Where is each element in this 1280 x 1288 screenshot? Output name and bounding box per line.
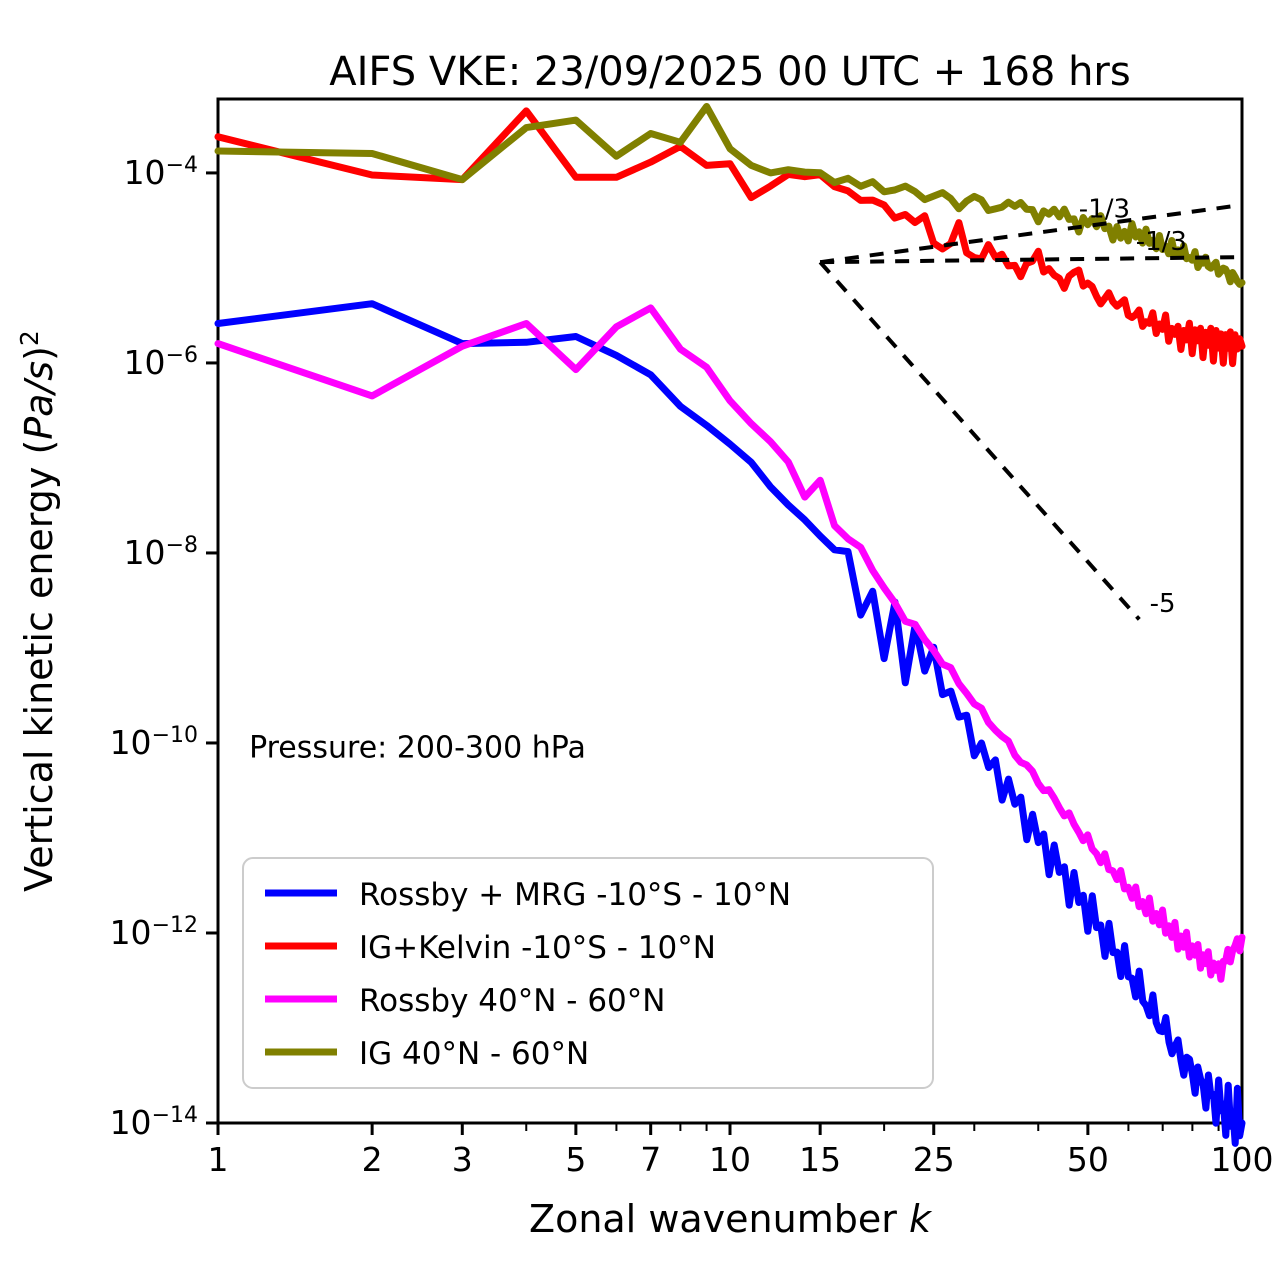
slope-label-upper: -1/3 bbox=[1079, 194, 1130, 224]
legend[interactable]: Rossby + MRG -10°S - 10°NIG+Kelvin -10°S… bbox=[243, 858, 933, 1088]
x-tick-label: 5 bbox=[565, 1140, 586, 1179]
legend-label-3: IG 40°N - 60°N bbox=[359, 1036, 589, 1072]
x-tick-label: 25 bbox=[913, 1140, 955, 1179]
legend-label-1: IG+Kelvin -10°S - 10°N bbox=[359, 930, 716, 966]
x-tick-label: 15 bbox=[799, 1140, 841, 1179]
x-axis-ticks bbox=[218, 1123, 1242, 1135]
x-tick-label: 1 bbox=[208, 1140, 229, 1179]
x-axis-label: Zonal wavenumber k bbox=[529, 1197, 933, 1241]
x-tick-label: 3 bbox=[452, 1140, 473, 1179]
legend-label-2: Rossby 40°N - 60°N bbox=[359, 983, 665, 1019]
legend-label-0: Rossby + MRG -10°S - 10°N bbox=[359, 877, 791, 913]
figure-background bbox=[0, 0, 1280, 1288]
x-tick-label: 10 bbox=[709, 1140, 751, 1179]
x-tick-label: 100 bbox=[1211, 1140, 1274, 1179]
x-tick-label: 7 bbox=[640, 1140, 661, 1179]
slope-label-minus5: -5 bbox=[1150, 589, 1176, 619]
x-tick-label: 2 bbox=[362, 1140, 383, 1179]
slope-label-lower: -1/3 bbox=[1136, 227, 1187, 257]
figure-canvas: AIFS VKE: 23/09/2025 00 UTC + 168 hrs 12… bbox=[0, 0, 1280, 1288]
y-axis-label: Vertical kinetic energy (Pa/s)2 bbox=[15, 330, 62, 892]
chart-title: AIFS VKE: 23/09/2025 00 UTC + 168 hrs bbox=[329, 49, 1130, 95]
pressure-annotation: Pressure: 200-300 hPa bbox=[249, 731, 586, 766]
x-tick-label: 50 bbox=[1067, 1140, 1109, 1179]
